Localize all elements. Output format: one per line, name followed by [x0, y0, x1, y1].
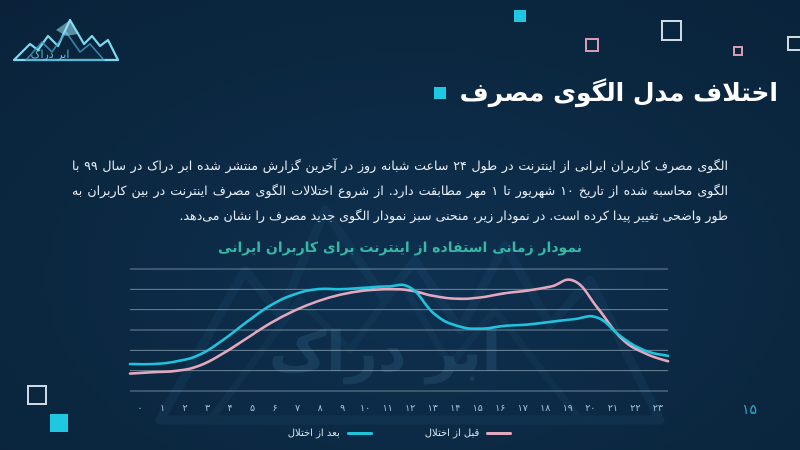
x-axis-tick-23: ۲۳	[648, 403, 668, 414]
chart-series-line-after	[130, 285, 668, 364]
x-axis-tick-19: ۱۹	[558, 403, 578, 414]
deco-square-pink-small	[733, 46, 743, 56]
x-axis-tick-6: ۶	[265, 403, 285, 414]
mountain-logo-icon	[8, 6, 123, 76]
chart-legend: قبل از اختلال بعد از اختلال	[0, 428, 800, 439]
logo-brand-text: ابر دراک	[10, 48, 90, 61]
deco-square-cyan-filled	[514, 10, 526, 22]
legend-swatch-after	[347, 432, 373, 435]
x-axis-tick-22: ۲۲	[625, 403, 645, 414]
x-axis-tick-5: ۵	[243, 403, 263, 414]
x-axis-tick-20: ۲۰	[580, 403, 600, 414]
chart-plot-area	[130, 262, 668, 398]
page-title: اختلاف مدل الگوی مصرف	[434, 78, 778, 107]
chart-gridlines	[130, 269, 668, 391]
body-paragraph: الگوی مصرف کاربران ایرانی از اینترنت در …	[72, 153, 728, 229]
legend-label-before: قبل از اختلال	[425, 428, 480, 439]
x-axis-tick-14: ۱۴	[445, 403, 465, 414]
x-axis-tick-8: ۸	[310, 403, 330, 414]
legend-item-after[interactable]: بعد از اختلال	[288, 428, 373, 439]
x-axis-tick-18: ۱۸	[535, 403, 555, 414]
x-axis-tick-2: ۲	[175, 403, 195, 414]
x-axis-tick-12: ۱۲	[400, 403, 420, 414]
x-axis-tick-11: ۱۱	[378, 403, 398, 414]
slide-canvas: ابر دراک ابر دراک اختلاف مدل الگوی مصرف …	[0, 0, 800, 450]
x-axis-tick-7: ۷	[288, 403, 308, 414]
page-number: ۱۵	[742, 402, 757, 418]
legend-swatch-before	[486, 432, 512, 435]
deco-square-pink-outline	[585, 38, 599, 52]
chart-x-axis: ۰۱۲۳۴۵۶۷۸۹۱۰۱۱۱۲۱۳۱۴۱۵۱۶۱۷۱۸۱۹۲۰۲۱۲۲۲۳	[130, 400, 668, 416]
x-axis-tick-17: ۱۷	[513, 403, 533, 414]
page-title-text: اختلاف مدل الگوی مصرف	[460, 78, 778, 107]
x-axis-tick-3: ۳	[198, 403, 218, 414]
legend-item-before[interactable]: قبل از اختلال	[425, 428, 513, 439]
deco-square-white-outline-right	[787, 36, 800, 51]
x-axis-tick-4: ۴	[220, 403, 240, 414]
x-axis-tick-1: ۱	[153, 403, 173, 414]
x-axis-tick-0: ۰	[130, 403, 150, 414]
x-axis-tick-16: ۱۶	[490, 403, 510, 414]
deco-square-white-outline	[661, 20, 682, 41]
x-axis-tick-21: ۲۱	[603, 403, 623, 414]
title-bullet-icon	[434, 87, 446, 99]
deco-square-white-outline-bottom	[27, 385, 47, 405]
chart-series-line-before	[130, 280, 668, 374]
x-axis-tick-13: ۱۳	[423, 403, 443, 414]
x-axis-tick-10: ۱۰	[355, 403, 375, 414]
x-axis-tick-9: ۹	[333, 403, 353, 414]
x-axis-tick-15: ۱۵	[468, 403, 488, 414]
chart-title: نمودار زمانی استفاده از اینترنت برای کار…	[0, 240, 800, 256]
legend-label-after: بعد از اختلال	[288, 428, 340, 439]
